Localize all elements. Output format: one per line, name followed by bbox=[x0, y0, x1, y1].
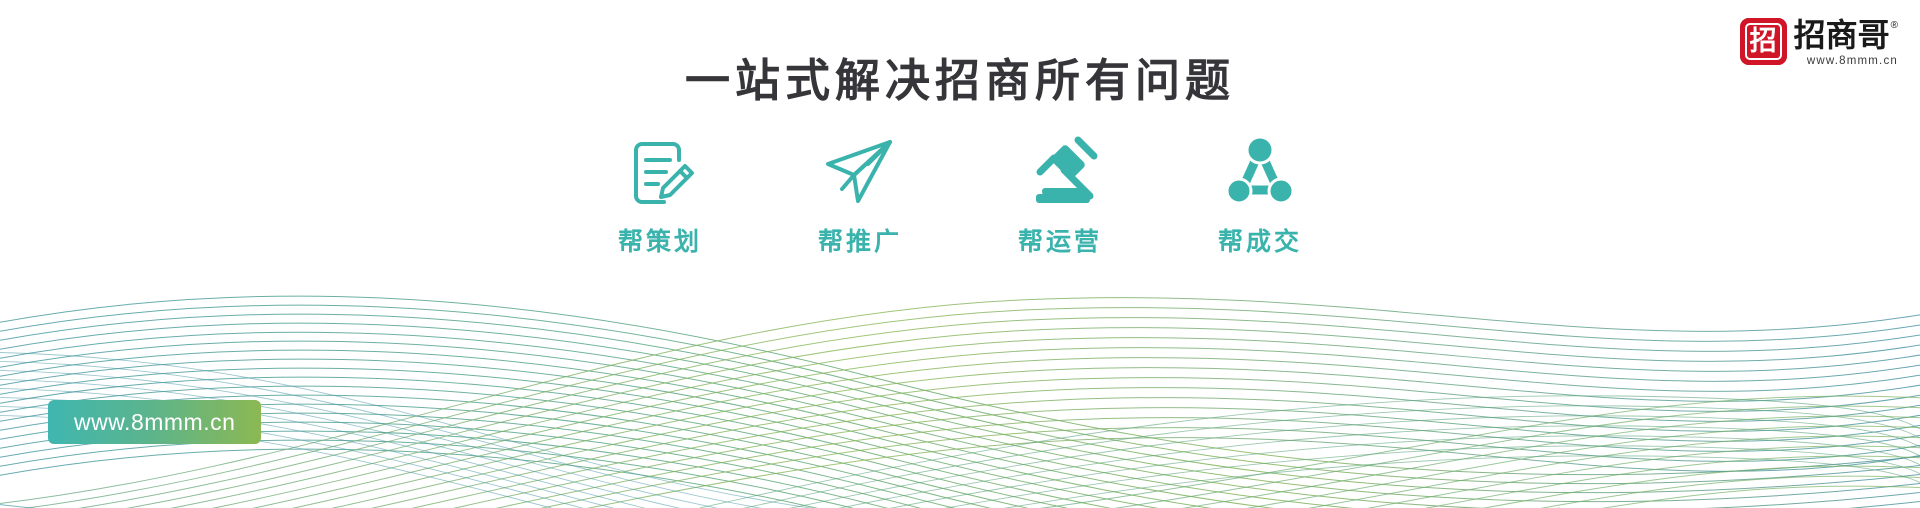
feature-item-planning[interactable]: 帮策划 bbox=[586, 133, 734, 254]
promo-banner: 招 招商哥 ® www.8mmm.cn 一站式解决招商所有问题 bbox=[0, 0, 1920, 508]
feature-item-operations[interactable]: 帮运营 bbox=[986, 133, 1134, 254]
feature-label-promotion: 帮推广 bbox=[818, 229, 902, 254]
logo-name: 招商哥 bbox=[1794, 19, 1890, 53]
document-pencil-icon bbox=[622, 133, 698, 211]
feature-list: 帮策划 帮推广 bbox=[0, 133, 1920, 254]
gavel-icon bbox=[1020, 133, 1100, 211]
logo-badge-char: 招 bbox=[1750, 28, 1777, 55]
feature-label-deal: 帮成交 bbox=[1218, 229, 1302, 254]
feature-item-deal[interactable]: 帮成交 bbox=[1186, 133, 1334, 254]
paper-plane-icon bbox=[820, 133, 900, 211]
website-url-text: www.8mmm.cn bbox=[74, 409, 235, 436]
website-url-badge[interactable]: www.8mmm.cn bbox=[48, 400, 261, 444]
feature-item-promotion[interactable]: 帮推广 bbox=[786, 133, 934, 254]
feature-label-operations: 帮运营 bbox=[1018, 229, 1102, 254]
feature-label-planning: 帮策划 bbox=[618, 229, 702, 254]
page-title: 一站式解决招商所有问题 bbox=[0, 53, 1920, 109]
registered-mark-icon: ® bbox=[1891, 21, 1898, 31]
network-nodes-icon bbox=[1222, 133, 1298, 211]
